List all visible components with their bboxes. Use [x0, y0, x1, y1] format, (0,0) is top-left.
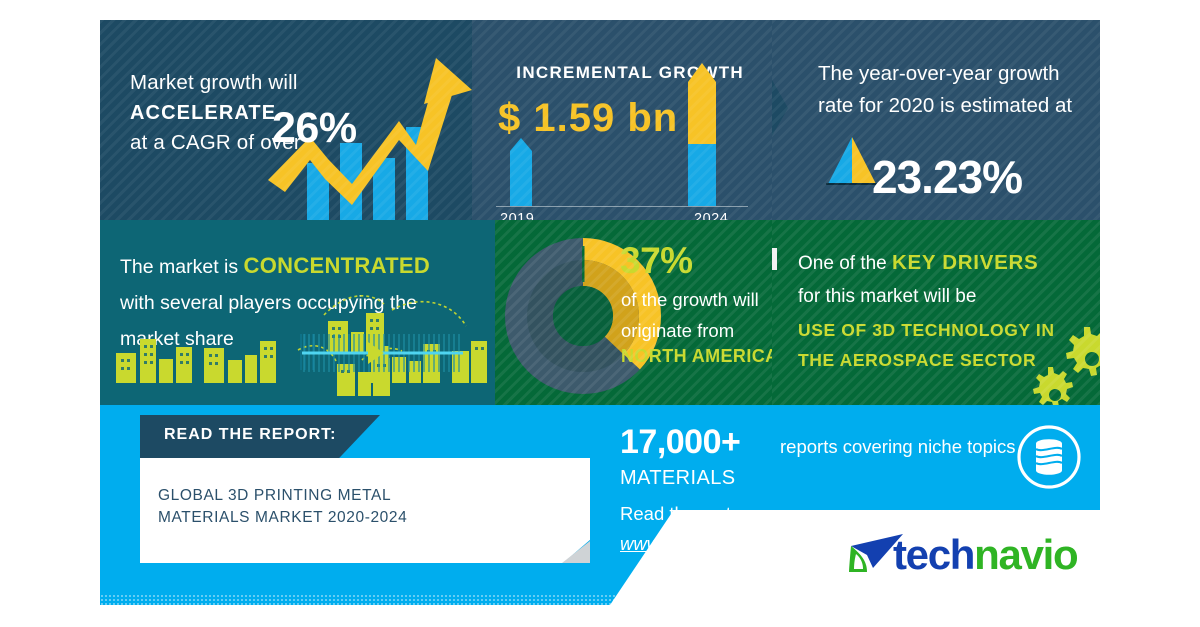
- report-card-title-line1: GLOBAL 3D PRINTING METAL: [158, 487, 391, 504]
- technavio-logo-text-tech: tech: [893, 531, 974, 578]
- north-america-caption-line1: of the growth will: [621, 289, 759, 310]
- technavio-logo-text: technavio: [893, 531, 1077, 579]
- north-america-percent: 37%: [620, 240, 693, 282]
- incremental-axis-line: [496, 206, 748, 207]
- north-america-caption: of the growth will originate from: [621, 284, 772, 346]
- key-drivers-headline: One of the KEY DRIVERS for this market w…: [798, 246, 1088, 313]
- key-drivers-headline-part1: One of the: [798, 253, 892, 274]
- read-the-report-ribbon: READ THE REPORT:: [140, 415, 380, 458]
- key-drivers-headline-line2: for this market will be: [798, 286, 976, 307]
- cagr-value: 26%: [272, 104, 357, 153]
- panel-yoy-growth: The year-over-year growth rate for 2020 …: [772, 20, 1100, 220]
- north-america-region-label: NORTH AMERICA: [621, 346, 772, 367]
- panel-north-america-share: 37% of the growth will originate from NO…: [495, 220, 772, 405]
- reports-count: 17,000+: [620, 423, 740, 462]
- key-drivers-headline-strong: KEY DRIVERS: [892, 251, 1038, 274]
- technavio-logo-text-navio: navio: [974, 531, 1077, 578]
- reports-count-tagline: reports covering niche topics: [780, 436, 1015, 458]
- incremental-year-end: 2024: [694, 211, 728, 220]
- read-the-report-label: READ THE REPORT:: [164, 426, 336, 444]
- panel-incremental-growth: INCREMENTAL GROWTH $ 1.59 bn 2019 2024: [472, 20, 772, 220]
- panel-cagr: Market growth will ACCELERATE at a CAGR …: [100, 20, 472, 220]
- report-card-title-line2: MATERIALS MARKET 2020-2024: [158, 509, 407, 526]
- yoy-value: 23.23%: [872, 150, 1022, 204]
- panel-key-drivers: One of the KEY DRIVERS for this market w…: [772, 220, 1100, 405]
- incremental-year-start: 2019: [500, 211, 534, 220]
- north-america-caption-line2: originate from: [621, 320, 734, 341]
- infographic-canvas: Market growth will ACCELERATE at a CAGR …: [0, 0, 1200, 627]
- panel-market-concentration: The market is CONCENTRATED with several …: [100, 220, 495, 405]
- materials-label: MATERIALS: [620, 467, 735, 490]
- database-stack-icon: [1016, 424, 1082, 490]
- report-card-title: GLOBAL 3D PRINTING METAL MATERIALS MARKE…: [158, 485, 538, 529]
- report-card[interactable]: GLOBAL 3D PRINTING METAL MATERIALS MARKE…: [140, 458, 590, 563]
- key-drivers-driver-line2: THE AEROSPACE SECTOR: [798, 350, 1036, 370]
